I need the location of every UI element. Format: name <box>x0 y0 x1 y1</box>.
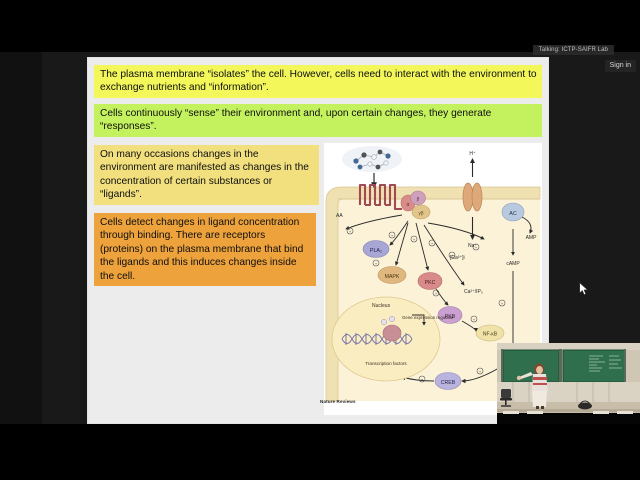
diagram-label-gene-regulator: Gene expression regulator <box>402 315 454 320</box>
mouse-cursor <box>579 282 590 296</box>
diagram-label-transcription-factors: Transcription factors <box>365 361 407 366</box>
diagram-label-pkc: PKC <box>425 280 436 286</box>
sign-in-button[interactable]: Sign in <box>605 60 636 72</box>
slide-text-sense-respond: Cells continuously “sense” their environ… <box>94 104 542 137</box>
slide-text-ligand-concentration: On many occasions changes in the environ… <box>94 145 319 205</box>
diagram-label-pla: PLA₂ <box>370 248 382 254</box>
presentation-slide[interactable]: The plasma membrane “isolates” the cell.… <box>88 58 548 423</box>
video-gutter <box>0 52 42 424</box>
diagram-label-ip3: Ca²⁺/IP₃ <box>464 289 483 295</box>
diagram-label-proton: H⁺ <box>469 151 476 157</box>
diagram-label-mapk: MAPK <box>385 274 400 280</box>
diagram-label-ac: AC <box>509 211 517 217</box>
slide-text-plasma-membrane: The plasma membrane “isolates” the cell.… <box>94 65 542 98</box>
diagram-label-g-alpha: α <box>407 202 410 208</box>
diagram-credit: Nature Reviews <box>320 399 356 404</box>
diagram-label-g-beta: β <box>417 197 420 202</box>
presenter-video-thumbnail[interactable] <box>497 343 640 424</box>
diagram-label-g-gamma: γβ <box>419 211 424 216</box>
talking-indicator: Talking: ICTP-SAIFR Lab <box>533 45 614 55</box>
diagram-label-creb: CREB <box>441 380 456 386</box>
slide-canvas: The plasma membrane “isolates” the cell.… <box>88 58 548 423</box>
app-window: Talking: ICTP-SAIFR Lab Sign in The plas… <box>0 0 640 480</box>
letterbox-bottom <box>0 424 640 480</box>
diagram-label-amp: AMP <box>526 235 538 241</box>
slide-text-receptor-binding: Cells detect changes in ligand concentra… <box>94 213 316 286</box>
diagram-label-nfkb: NF-κB <box>483 332 498 338</box>
diagram-label-nucleus: Nucleus <box>372 303 391 309</box>
diagram-label-camp: cAMP <box>506 261 520 267</box>
diagram-label-aa: AA <box>336 213 343 219</box>
